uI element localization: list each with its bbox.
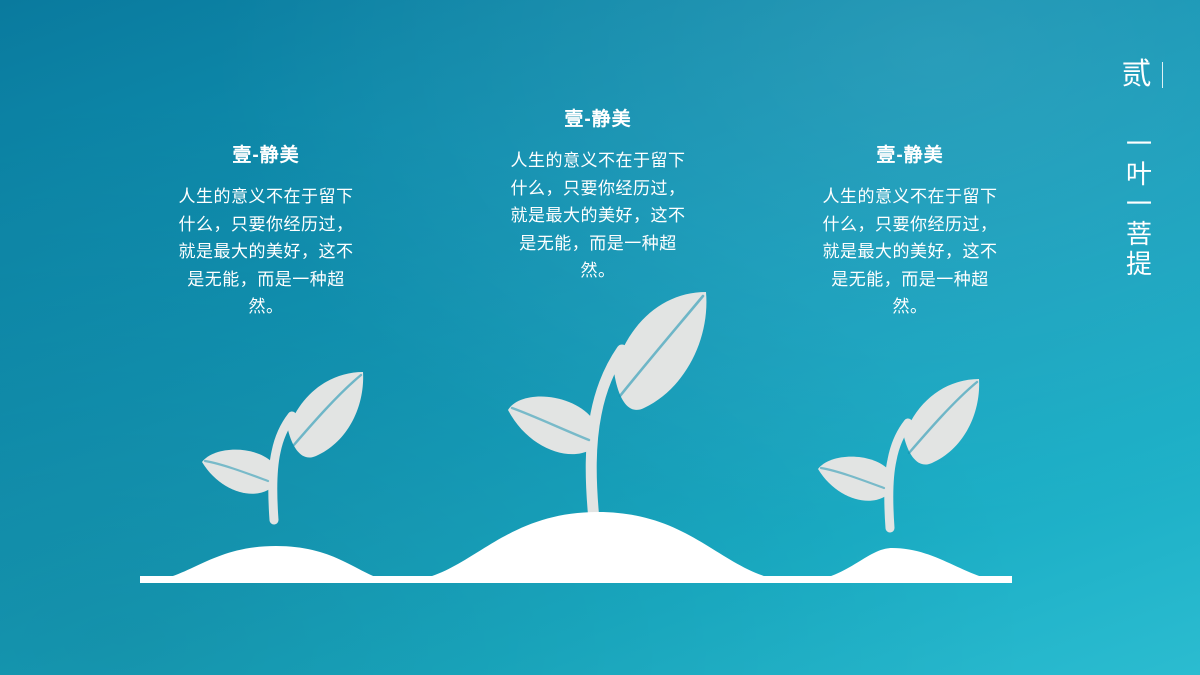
- text-block-2: 壹-静美 人生的意义不在于留下什么，只要你经历过，就是最大的美好，这不是无能，而…: [505, 104, 691, 285]
- sprout-left: [202, 372, 363, 520]
- section-title-vertical: 一叶一菩提: [1119, 130, 1154, 280]
- text-block-1-body: 人生的意义不在于留下什么，只要你经历过，就是最大的美好，这不是无能，而是一种超然…: [178, 183, 354, 321]
- slide-canvas: 壹-静美 人生的意义不在于留下什么，只要你经历过，就是最大的美好，这不是无能，而…: [0, 0, 1200, 675]
- sprout-right: [818, 379, 979, 528]
- text-block-1: 壹-静美 人生的意义不在于留下什么，只要你经历过，就是最大的美好，这不是无能，而…: [178, 140, 354, 321]
- text-block-3-body: 人生的意义不在于留下什么，只要你经历过，就是最大的美好，这不是无能，而是一种超然…: [822, 183, 998, 321]
- vertical-title: 贰 一叶一菩提: [1102, 60, 1172, 285]
- text-block-3-heading: 壹-静美: [822, 140, 998, 167]
- sprout-center: [508, 292, 706, 520]
- text-block-3: 壹-静美 人生的意义不在于留下什么，只要你经历过，就是最大的美好，这不是无能，而…: [822, 140, 998, 321]
- sprouts-illustration: [0, 0, 1200, 675]
- section-number: 贰: [1122, 60, 1153, 104]
- text-block-1-heading: 壹-静美: [178, 140, 354, 167]
- text-block-2-body: 人生的意义不在于留下什么，只要你经历过，就是最大的美好，这不是无能，而是一种超然…: [505, 147, 691, 285]
- text-block-2-heading: 壹-静美: [505, 104, 691, 131]
